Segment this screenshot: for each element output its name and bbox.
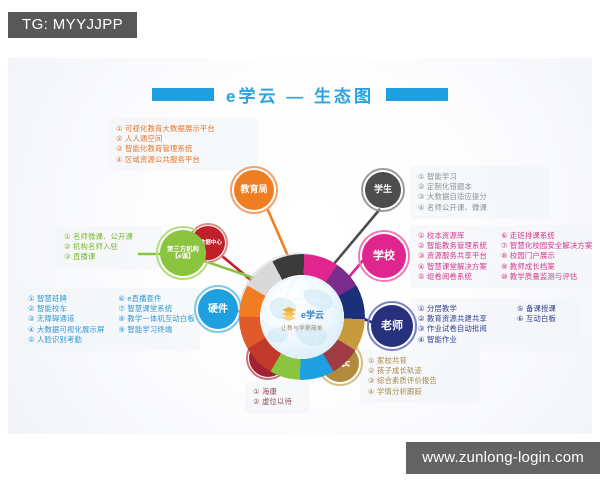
node-school-label: 学校 [373,250,395,262]
ecosystem-poster: e学云 — 生态图 [8,58,592,434]
center-brand-name: e学云 [301,308,324,321]
node-student[interactable]: 学生 [365,172,401,208]
book-logo-icon [280,306,298,322]
center-globe: e学云 让教与学更简单 [260,275,344,359]
node-education-bureau[interactable]: 教育局 [234,170,274,210]
node-hardware-label: 硬件 [208,304,228,315]
node-school[interactable]: 学校 [362,234,406,278]
node-student-label: 学生 [374,185,392,195]
watermark: www.zunlong-login.com [406,442,600,474]
screenshot-canvas: TG: MYYJJPP e学云 — 生态图 [0,0,600,480]
node-education-bureau-label: 教育局 [240,185,267,195]
node-hardware[interactable]: 硬件 [198,289,238,329]
node-teacher[interactable]: 老师 [371,305,413,347]
node-third-party-org-label: 第三方机构 【e课】 [167,246,199,260]
tg-badge: TG: MYYJJPP [8,12,137,38]
center-tagline: 让教与学更简单 [281,324,323,332]
node-teacher-label: 老师 [381,320,403,332]
center-hub: e学云 让教与学更简单 [239,254,365,380]
center-brand: e学云 [280,306,324,322]
node-third-party-org[interactable]: 第三方机构 【e课】 [160,230,206,276]
